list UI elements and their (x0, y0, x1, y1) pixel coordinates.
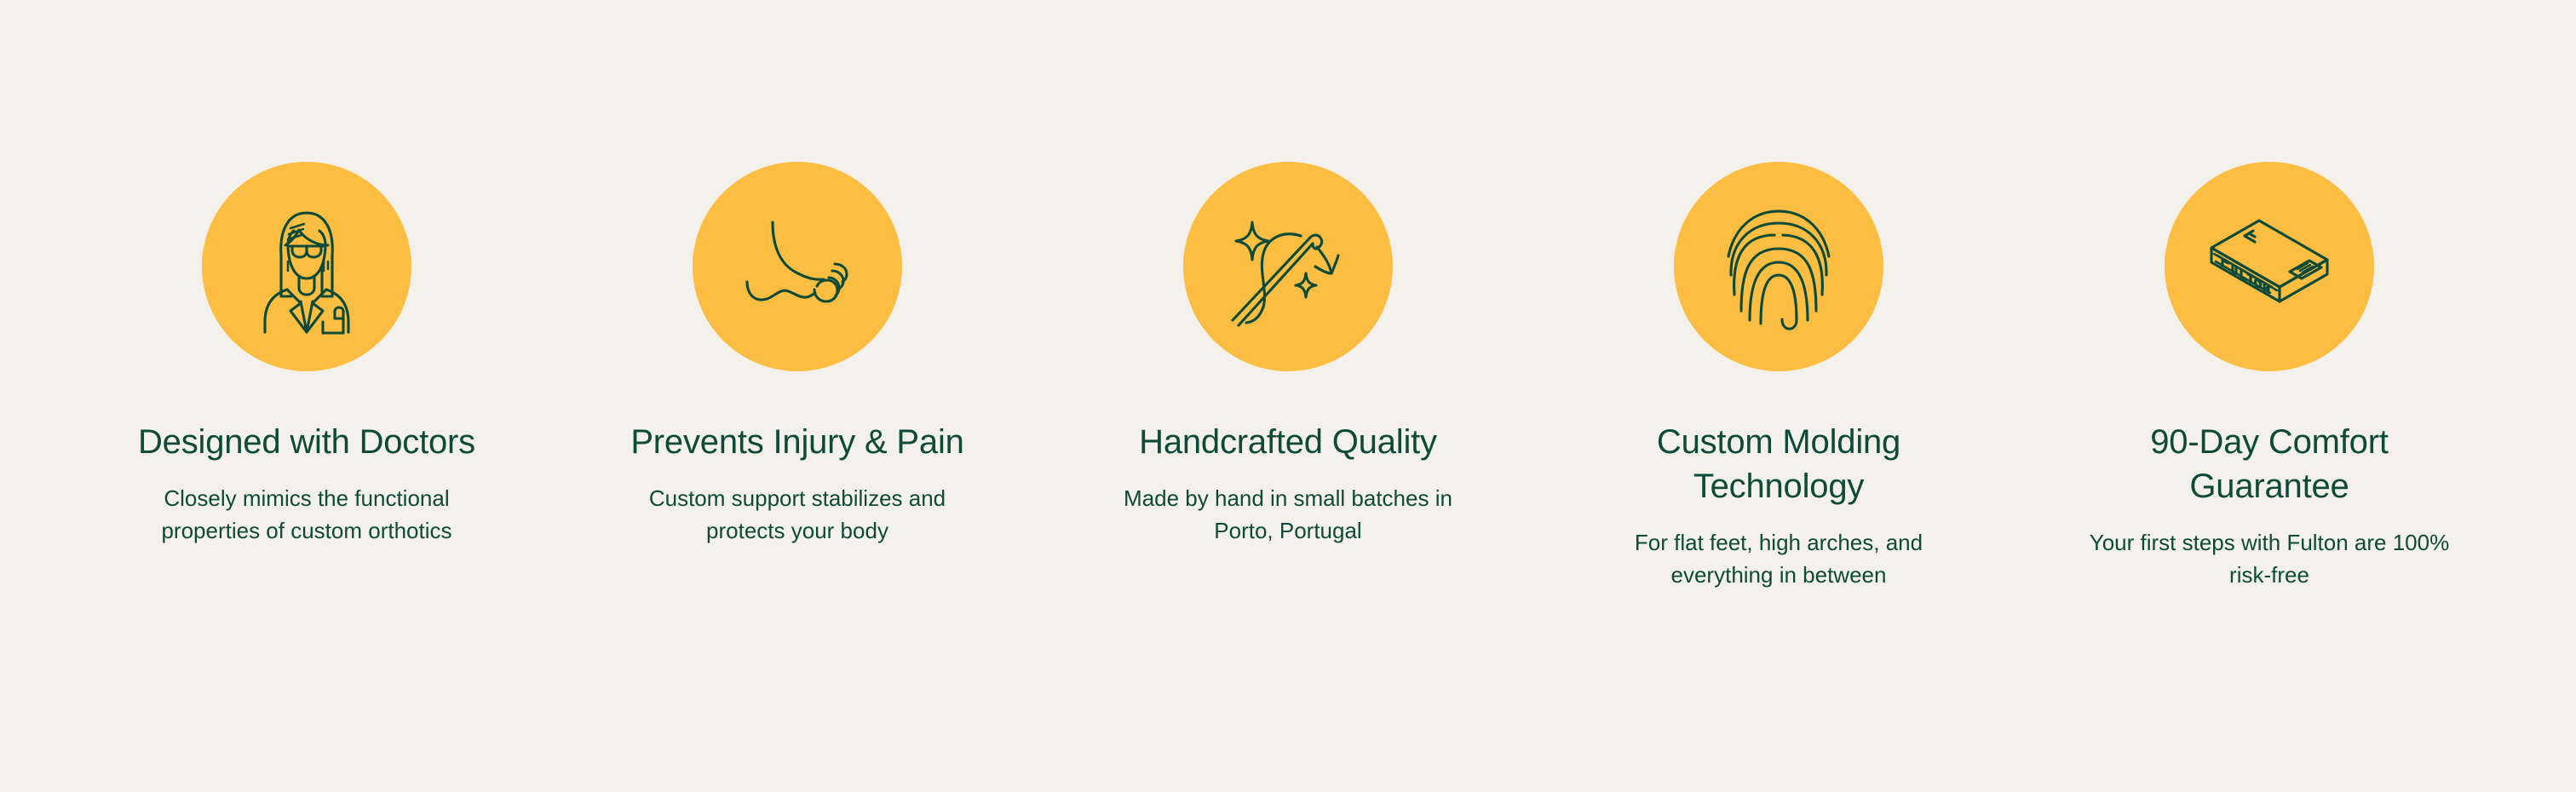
feature-title: 90-Day Comfort Guarantee (2061, 420, 2478, 508)
doctor-icon (234, 194, 379, 339)
foot-icon-badge (693, 162, 902, 371)
feature-description: Made by hand in small batches in Porto, … (1092, 483, 1484, 547)
doctor-icon-badge (202, 162, 411, 371)
feature-title: Handcrafted Quality (1130, 420, 1446, 464)
feature-title: Designed with Doctors (129, 420, 484, 464)
feature-column-handcrafted-quality: Handcrafted Quality Made by hand in smal… (1043, 0, 1533, 547)
feature-title: Prevents Injury & Pain (622, 420, 972, 464)
feature-column-prevents-injury-and-pain: Prevents Injury & Pain Custom support st… (552, 0, 1043, 547)
feature-description: Your first steps with Fulton are 100% ri… (2073, 527, 2465, 591)
feature-description: Custom support stabilizes and protects y… (601, 483, 993, 547)
product-benefits-row: Designed with Doctors Closely mimics the… (0, 0, 2576, 792)
fingerprint-icon (1706, 194, 1851, 339)
feature-column-designed-with-doctors: Designed with Doctors Closely mimics the… (61, 0, 552, 547)
feature-column-custom-molding-technology: Custom Molding Technology For flat feet,… (1533, 0, 2024, 591)
feature-title: Custom Molding Technology (1570, 420, 1987, 508)
needle-and-thread-icon-badge (1183, 162, 1393, 371)
fingerprint-icon-badge (1674, 162, 1883, 371)
foot-icon (725, 194, 870, 339)
shoe-box-icon (2197, 194, 2342, 339)
feature-description: Closely mimics the functional properties… (111, 483, 503, 547)
feature-column-90-day-comfort-guarantee: 90-Day Comfort Guarantee Your first step… (2024, 0, 2515, 591)
shoe-box-icon-badge (2165, 162, 2374, 371)
feature-description: For flat feet, high arches, and everythi… (1583, 527, 1975, 591)
needle-and-thread-icon (1216, 194, 1360, 339)
